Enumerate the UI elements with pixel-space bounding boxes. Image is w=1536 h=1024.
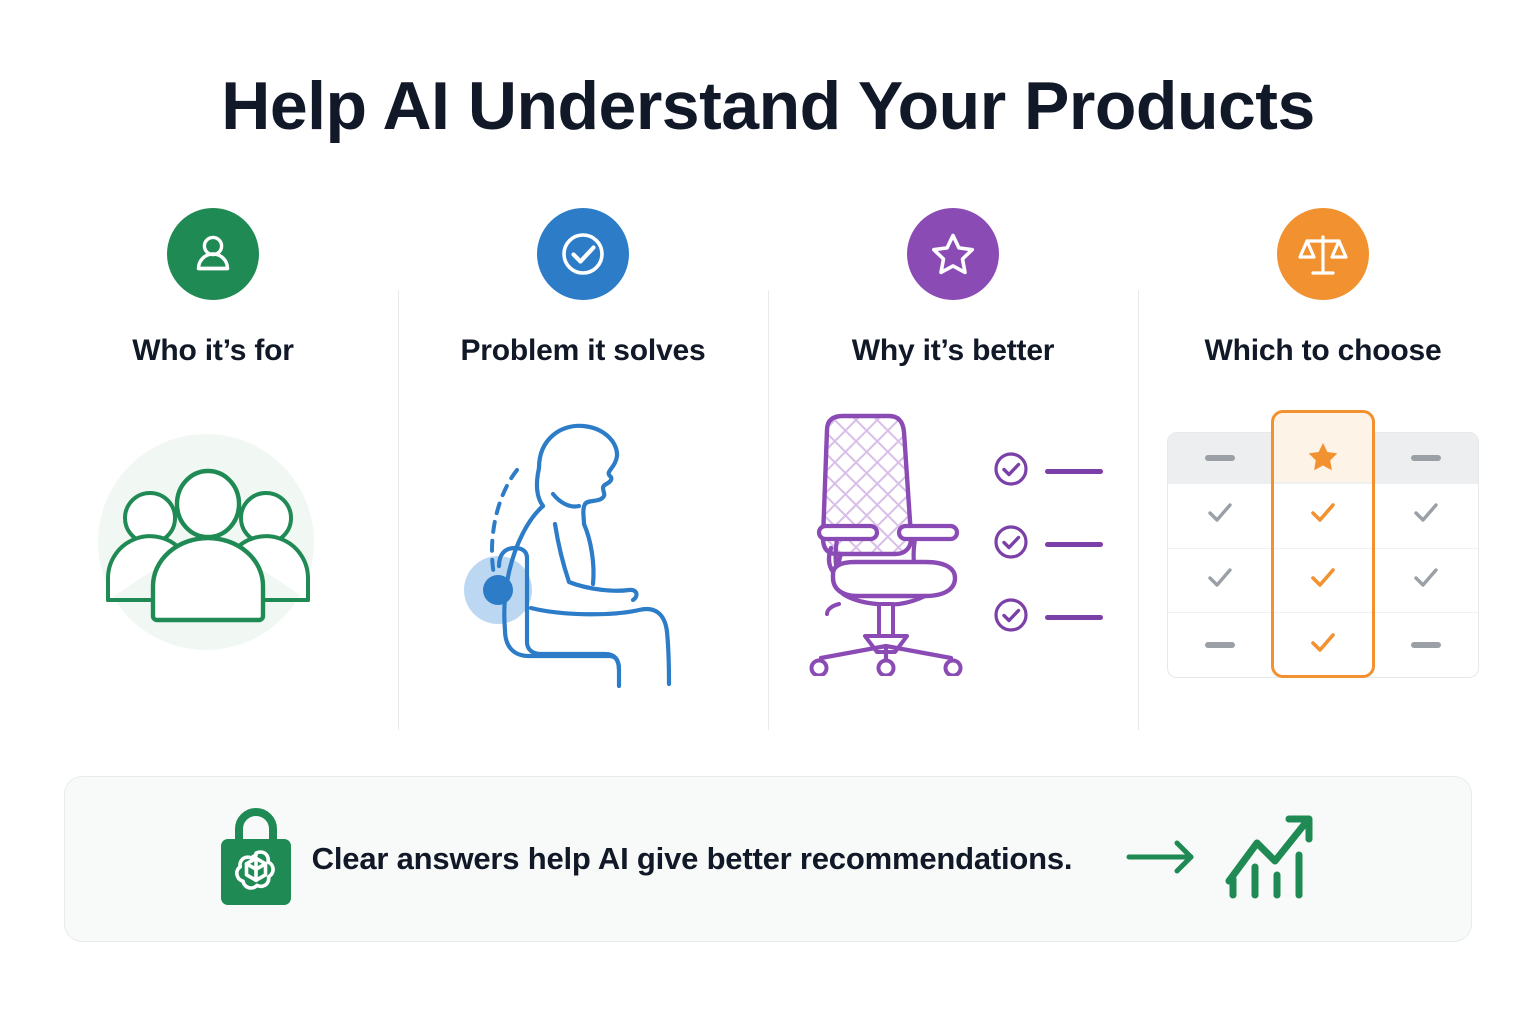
feature-check-item	[993, 597, 1103, 638]
check-icon	[1308, 628, 1338, 663]
table-cell-highlighted	[1271, 484, 1374, 548]
table-header-cell	[1168, 433, 1271, 483]
feature-check-item	[993, 451, 1103, 492]
check-circle-icon	[993, 524, 1029, 565]
column-why-its-better: Why it’s better	[768, 208, 1138, 738]
table-cell	[1375, 549, 1478, 613]
column-label-which-to-choose: Which to choose	[1204, 334, 1441, 368]
check-icon	[1205, 563, 1235, 598]
dash-icon	[1411, 642, 1441, 648]
column-who-its-for: Who it’s for	[28, 208, 398, 738]
badge-which-to-choose	[1277, 208, 1369, 300]
feature-line	[1045, 469, 1103, 474]
feature-check-list	[993, 451, 1103, 638]
person-icon	[187, 228, 239, 280]
check-circle-icon	[556, 227, 610, 281]
table-header-cell	[1375, 433, 1478, 483]
openai-shopping-bag-icon	[213, 805, 299, 914]
illustration-comparison-table	[1167, 394, 1479, 694]
feature-line	[1045, 542, 1103, 547]
column-label-why-its-better: Why it’s better	[852, 334, 1055, 368]
growth-bar-chart-icon	[1223, 809, 1315, 910]
badge-problem-it-solves	[537, 208, 629, 300]
check-icon	[1411, 498, 1441, 533]
summary-banner: Clear answers help AI give better recomm…	[64, 776, 1472, 942]
badge-who-its-for	[167, 208, 259, 300]
banner-message: Clear answers help AI give better recomm…	[299, 841, 1125, 877]
check-icon	[1308, 563, 1338, 598]
column-label-who-its-for: Who it’s for	[132, 334, 293, 368]
feature-columns: Who it’s for	[28, 208, 1508, 738]
table-row	[1168, 548, 1478, 613]
check-circle-icon	[993, 451, 1029, 492]
infographic-page: Help AI Understand Your Products Who it’…	[0, 0, 1536, 1024]
scales-icon	[1296, 227, 1350, 281]
illustration-three-people	[88, 394, 338, 694]
table-cell-highlighted	[1271, 549, 1374, 613]
table-cell	[1375, 484, 1478, 548]
dash-icon	[1411, 455, 1441, 461]
column-problem-it-solves: Problem it solves	[398, 208, 768, 738]
check-icon	[1411, 563, 1441, 598]
office-chair-icon	[803, 408, 975, 681]
illustration-office-chair-features	[803, 394, 1103, 694]
arrow-right-icon	[1125, 837, 1201, 882]
table-row	[1168, 483, 1478, 548]
illustration-seated-person	[443, 394, 723, 694]
star-outline-icon	[925, 226, 981, 282]
table-row	[1168, 612, 1478, 677]
dash-icon	[1205, 455, 1235, 461]
badge-why-its-better	[907, 208, 999, 300]
table-cell	[1168, 484, 1271, 548]
column-label-problem-it-solves: Problem it solves	[460, 334, 705, 368]
table-cell	[1168, 613, 1271, 677]
feature-check-item	[993, 524, 1103, 565]
dash-icon	[1205, 642, 1235, 648]
table-cell	[1168, 549, 1271, 613]
recommended-star-icon	[1274, 432, 1372, 482]
column-which-to-choose: Which to choose	[1138, 208, 1508, 738]
check-circle-icon	[993, 597, 1029, 638]
check-icon	[1308, 498, 1338, 533]
table-cell	[1375, 613, 1478, 677]
page-title: Help AI Understand Your Products	[0, 72, 1536, 140]
table-cell-highlighted	[1271, 613, 1374, 677]
check-icon	[1205, 498, 1235, 533]
feature-line	[1045, 615, 1103, 620]
